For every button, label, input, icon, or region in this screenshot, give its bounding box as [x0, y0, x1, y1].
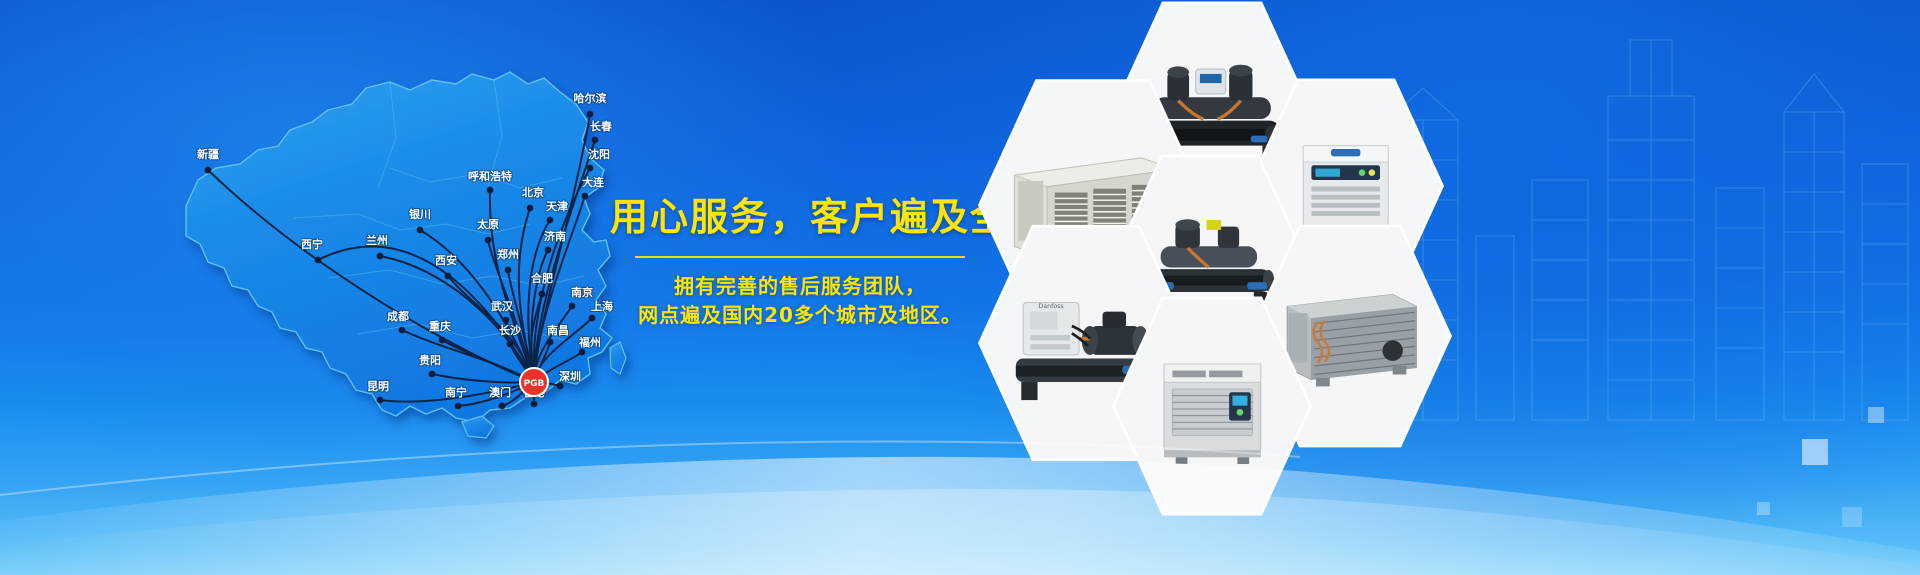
city-label: 重庆 [429, 319, 451, 333]
city-dot[interactable] [377, 253, 384, 260]
city-label: 西宁 [301, 237, 323, 251]
city-label: 武汉 [491, 299, 514, 313]
city-label: 深圳 [559, 369, 581, 383]
city-dot[interactable] [589, 315, 596, 322]
city-dot[interactable] [587, 111, 594, 118]
headline-block: 用心服务，客户遍及全国 拥有完善的售后服务团队， 网点遍及国内20多个城市及地区… [610, 196, 990, 330]
city-label: 郑州 [497, 247, 519, 261]
subtitle-line-1: 拥有完善的售后服务团队， [610, 272, 990, 301]
city-label: 西安 [435, 253, 457, 267]
city-dot[interactable] [429, 371, 436, 378]
hub-marker-guangzhou: PGB [519, 368, 549, 396]
city-label: 澳门 [489, 385, 511, 399]
city-label: 成都 [387, 309, 409, 323]
city-label: 呼和浩特 [468, 169, 512, 183]
city-dot[interactable] [592, 137, 599, 144]
city-dot[interactable] [531, 401, 538, 408]
city-label: 长沙 [499, 323, 521, 337]
subtitle-line-2: 网点遍及国内20多个城市及地区。 [610, 301, 990, 330]
city-dot[interactable] [539, 291, 546, 298]
city-dot[interactable] [487, 187, 494, 194]
city-label: 天津 [546, 199, 568, 213]
city-dot[interactable] [445, 273, 452, 280]
hub-label: PGB [524, 379, 545, 389]
city-label: 济南 [544, 229, 566, 243]
city-label: 合肥 [531, 271, 553, 285]
product-hexagon-cluster: Danfoss [960, 0, 1860, 512]
city-dot[interactable] [557, 383, 564, 390]
city-label: 兰州 [366, 233, 388, 247]
accent-square-2 [1868, 407, 1884, 423]
city-label: 长春 [590, 119, 613, 133]
city-label: 南京 [571, 285, 593, 299]
city-dot[interactable] [399, 327, 406, 334]
city-dot[interactable] [505, 267, 512, 274]
city-dot[interactable] [545, 247, 552, 254]
page-title: 用心服务，客户遍及全国 [610, 196, 990, 240]
city-dot[interactable] [455, 403, 462, 410]
city-label: 哈尔滨 [574, 91, 607, 105]
title-divider [635, 256, 965, 258]
city-dot[interactable] [439, 337, 446, 344]
city-dot[interactable] [527, 205, 534, 212]
city-label: 北京 [522, 185, 544, 199]
city-dot[interactable] [417, 227, 424, 234]
city-dot[interactable] [587, 165, 594, 172]
city-label: 南昌 [547, 323, 569, 337]
city-label: 南宁 [445, 385, 467, 399]
city-label: 贵阳 [419, 353, 441, 367]
city-label: 福州 [578, 335, 601, 349]
city-label: 太原 [476, 217, 499, 231]
city-label: 银川 [409, 207, 431, 221]
svg-text:Danfoss: Danfoss [1038, 303, 1063, 310]
city-dot[interactable] [499, 403, 506, 410]
city-dot[interactable] [569, 303, 576, 310]
city-label: 大连 [582, 175, 605, 189]
city-dot[interactable] [547, 217, 554, 224]
city-dot[interactable] [205, 167, 212, 174]
service-network-banner: 新疆哈尔滨长春沈阳呼和浩特北京大连天津银川太原兰州西宁济南郑州西安合肥南京上海武… [0, 0, 1920, 575]
city-dot[interactable] [582, 193, 589, 200]
city-dot[interactable] [315, 257, 322, 264]
city-label: 昆明 [367, 380, 389, 393]
city-dot[interactable] [377, 397, 384, 404]
city-dot[interactable] [547, 339, 554, 346]
city-dot[interactable] [507, 341, 514, 348]
city-dot[interactable] [579, 349, 586, 356]
city-dot[interactable] [503, 317, 510, 324]
city-dot[interactable] [485, 237, 492, 244]
city-label: 沈阳 [588, 147, 610, 161]
city-label: 新疆 [197, 147, 219, 161]
